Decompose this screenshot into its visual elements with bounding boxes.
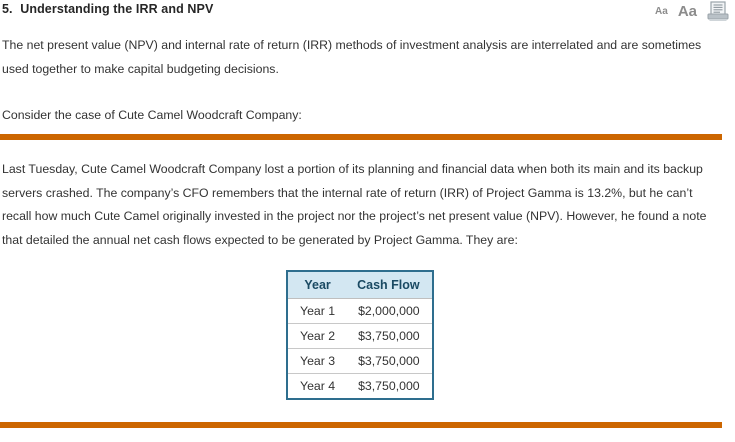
column-header-cash-flow: Cash Flow (347, 271, 433, 299)
cell-year: Year 3 (287, 349, 347, 374)
divider-top (0, 134, 722, 140)
table-row: Year 3 $3,750,000 (287, 349, 433, 374)
cash-flow-table: Year Cash Flow Year 1 $2,000,000 Year 2 … (286, 270, 434, 400)
cell-year: Year 1 (287, 299, 347, 324)
cash-flow-table-wrapper: Year Cash Flow Year 1 $2,000,000 Year 2 … (286, 270, 434, 400)
table-row: Year 4 $3,750,000 (287, 374, 433, 400)
page-title: 5. Understanding the IRR and NPV (2, 2, 213, 16)
table-row: Year 1 $2,000,000 (287, 299, 433, 324)
cell-year: Year 2 (287, 324, 347, 349)
consider-paragraph: Consider the case of Cute Camel Woodcraf… (2, 104, 717, 128)
cell-cash-flow: $3,750,000 (347, 374, 433, 400)
text-tools: Aa Aa (655, 1, 729, 22)
scenario-paragraph: Last Tuesday, Cute Camel Woodcraft Compa… (2, 158, 718, 252)
cell-cash-flow: $3,750,000 (347, 349, 433, 374)
intro-paragraph: The net present value (NPV) and internal… (2, 34, 702, 81)
table-row: Year 2 $3,750,000 (287, 324, 433, 349)
page-header: 5. Understanding the IRR and NPV Aa Aa (0, 0, 735, 30)
cell-cash-flow: $2,000,000 (347, 299, 433, 324)
question-number: 5. (2, 2, 13, 16)
intro-content: The net present value (NPV) and internal… (2, 34, 717, 128)
increase-font-size-button[interactable]: Aa (678, 2, 697, 22)
question-title: Understanding the IRR and NPV (20, 2, 213, 16)
question-page: 5. Understanding the IRR and NPV Aa Aa T… (0, 0, 735, 442)
print-icon[interactable] (707, 1, 729, 22)
cell-year: Year 4 (287, 374, 347, 400)
column-header-year: Year (287, 271, 347, 299)
scenario-content: Last Tuesday, Cute Camel Woodcraft Compa… (2, 158, 720, 252)
paragraph-spacer (2, 81, 717, 104)
divider-bottom (0, 422, 722, 428)
decrease-font-size-button[interactable]: Aa (655, 2, 668, 22)
cell-cash-flow: $3,750,000 (347, 324, 433, 349)
table-header-row: Year Cash Flow (287, 271, 433, 299)
